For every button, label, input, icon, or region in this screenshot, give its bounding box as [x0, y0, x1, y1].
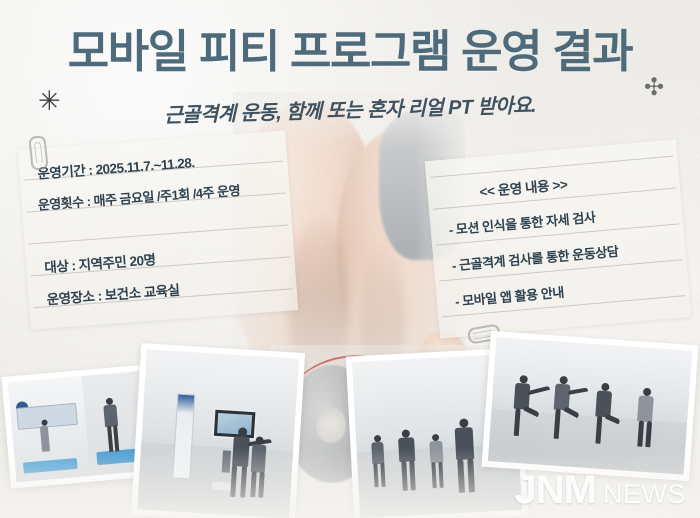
watermark-brand: JNM [515, 470, 596, 510]
info-line-place: 운영장소 : 보건소 교육실 [46, 279, 180, 309]
info-card: 운영기간 : 2025.11.7.~11.28. 운영횟수 : 매주 금요일 /… [18, 130, 298, 329]
person-body [637, 395, 654, 422]
photo-balance-exercise-image [488, 337, 692, 474]
person-body [103, 404, 118, 427]
watermark-suffix: NEWS [603, 481, 686, 508]
person-body [251, 444, 267, 473]
photo-hall-kiosk [131, 343, 305, 518]
poster-canvas: 모바일 피티 프로그램 운영 결과 근골격계 운동, 함께 또는 혼자 리얼 P… [0, 0, 700, 518]
info-line-frequency: 운영횟수 : 매주 금요일 /주1회 /4주 운영 [37, 180, 240, 214]
person-body [455, 427, 475, 460]
photo-balance-exercise [482, 331, 699, 481]
scene-floor [137, 442, 293, 518]
info-line-target: 대상 : 지역주민 20명 [44, 248, 156, 276]
content-card-heading: << 운영 내용 >> [479, 173, 568, 201]
person-body [595, 390, 612, 417]
sparkle-icon-right: ✣ [644, 76, 664, 100]
monitor-stand [222, 450, 231, 472]
person-body [232, 436, 250, 467]
photo-hall-kiosk-image [137, 350, 298, 518]
scene-ceiling [144, 350, 299, 417]
content-item-app: - 모바일 앱 활용 안내 [454, 282, 565, 310]
info-line-period: 운영기간 : 2025.11.7.~11.28. [37, 151, 195, 182]
person-body [554, 384, 571, 411]
person-body [398, 437, 415, 462]
content-item-exercise: - 근골격계 검사를 통한 운동상담 [451, 241, 619, 274]
person-body [514, 383, 531, 410]
page-title: 모바일 피티 프로그램 운영 결과 [0, 28, 700, 77]
person-body [371, 442, 384, 465]
sparkle-icon-left: ✳ [38, 88, 61, 115]
content-item-posture: - 모션 인식을 통한 자세 검사 [448, 207, 596, 239]
watermark: JNM NEWS [515, 470, 686, 510]
content-card: << 운영 내용 >> - 모션 인식을 통한 자세 검사 - 근골격계 검사를… [425, 139, 692, 338]
paperclip-icon-top-left [28, 135, 48, 171]
person-body [429, 441, 443, 464]
